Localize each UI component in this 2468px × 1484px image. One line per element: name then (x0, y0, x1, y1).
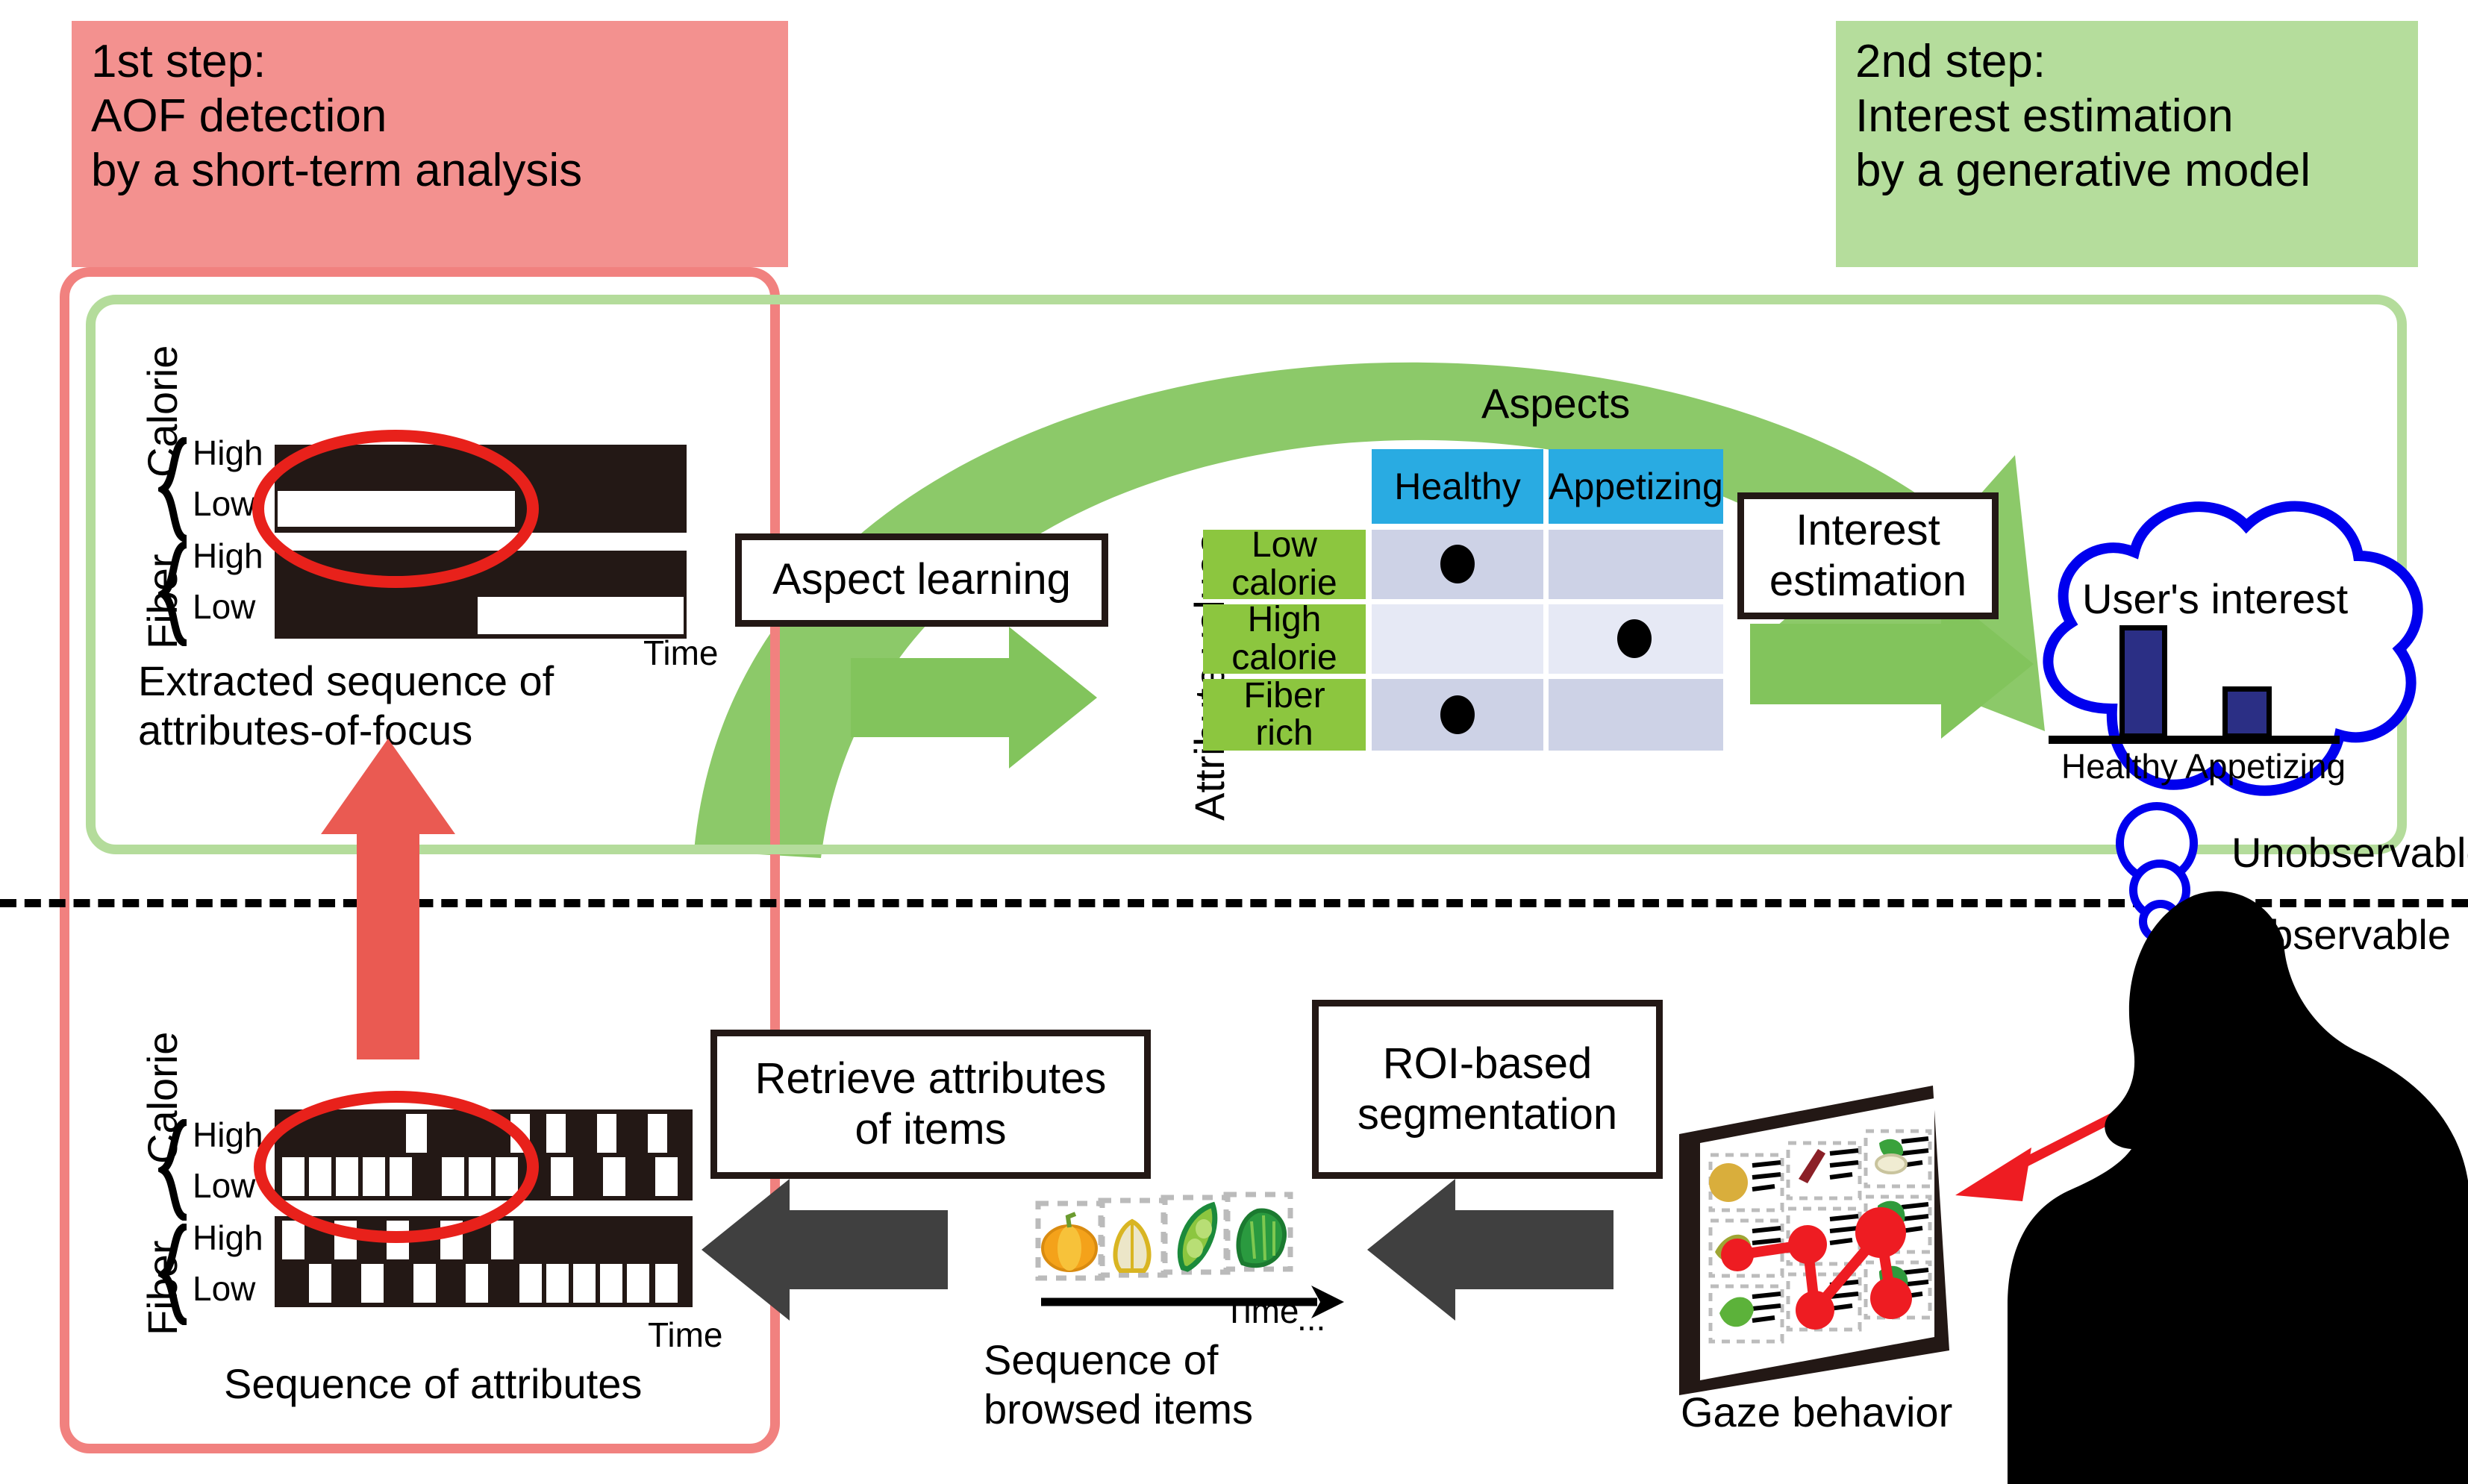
interest-chart-xticks: Healthy Appetizing (2061, 746, 2346, 786)
brace-calorie-top-icon (158, 437, 193, 542)
interest-bar-appetizing (2222, 686, 2272, 739)
top-calorie-low-label: Low (193, 483, 255, 524)
bottom-calorie-high-label: High (193, 1115, 263, 1155)
aspects-row-header-low-calorie: Low calorie (1203, 530, 1366, 599)
aspects-cell-healthy-low-calorie[interactable] (1372, 530, 1543, 599)
thought-cloud-icon (2000, 463, 2468, 851)
bottom-time-label: Time (648, 1315, 723, 1355)
red-up-arrow-icon (321, 739, 455, 1059)
aspects-title: Aspects (1481, 379, 1630, 428)
interest-bar-healthy (2119, 625, 2167, 739)
gray-left-arrow-icon (702, 1179, 948, 1321)
figure-canvas: 1st step: AOF detection by a short-term … (0, 0, 2468, 1484)
bottom-fiber-low-label: Low (193, 1268, 255, 1309)
person-silhouette-icon (2008, 888, 2468, 1484)
top-time-label: Time (643, 633, 719, 673)
aspects-col-header-healthy: Healthy (1372, 449, 1543, 524)
aspects-col-header-appetizing: Appetizing (1549, 449, 1723, 524)
gray-left-arrow-icon-2 (1367, 1179, 1613, 1321)
brace-calorie-bottom-icon (158, 1119, 193, 1221)
aspect-learning-box[interactable]: Aspect learning (735, 533, 1108, 627)
green-right-arrow-icon (851, 627, 1097, 768)
sequence-of-attributes-caption: Sequence of attributes (224, 1359, 642, 1408)
aspects-cell-appetizing-fiber-rich[interactable] (1549, 679, 1723, 751)
interest-estimation-box[interactable]: Interest estimation (1737, 492, 1999, 619)
interest-chart-axis (2049, 736, 2340, 744)
gaze-behavior-caption: Gaze behavior (1681, 1388, 1952, 1436)
top-calorie-high-label: High (193, 433, 263, 473)
aspects-cell-appetizing-high-calorie[interactable] (1549, 604, 1723, 674)
top-fiber-high-label: High (193, 536, 263, 576)
browsed-items-ellipsis: ... (1297, 1298, 1325, 1339)
red-ellipse-highlight-icon (252, 430, 539, 588)
aspects-row-header-fiber-rich: Fiber rich (1203, 679, 1366, 751)
brace-fiber-top-icon (158, 542, 193, 646)
browsed-items-time-label: Time (1224, 1291, 1299, 1331)
browsed-items-caption: Sequence of browsed items (984, 1336, 1297, 1434)
aspects-row-header-high-calorie: High calorie (1203, 604, 1366, 674)
users-interest-title: User's interest (2082, 574, 2348, 623)
banner-step-2: 2nd step: Interest estimation by a gener… (1836, 21, 2418, 267)
banner-step-1: 1st step: AOF detection by a short-term … (72, 21, 788, 267)
aspects-cell-healthy-fiber-rich[interactable] (1372, 679, 1543, 751)
roi-segmentation-box[interactable]: ROI-based segmentation (1312, 1000, 1663, 1179)
interest-tick-appetizing: Appetizing (2185, 747, 2346, 786)
bottom-fiber-high-label: High (193, 1218, 263, 1258)
top-fiber-low-label: Low (193, 586, 255, 627)
brace-fiber-bottom-icon (158, 1224, 193, 1325)
aspects-cell-healthy-high-calorie[interactable] (1372, 604, 1543, 674)
red-ellipse-highlight-icon-2 (254, 1091, 539, 1243)
interest-tick-healthy: Healthy (2061, 747, 2178, 786)
retrieve-attributes-box[interactable]: Retrieve attributes of items (710, 1030, 1151, 1179)
bottom-calorie-low-label: Low (193, 1165, 255, 1206)
aspects-cell-appetizing-low-calorie[interactable] (1549, 530, 1723, 599)
